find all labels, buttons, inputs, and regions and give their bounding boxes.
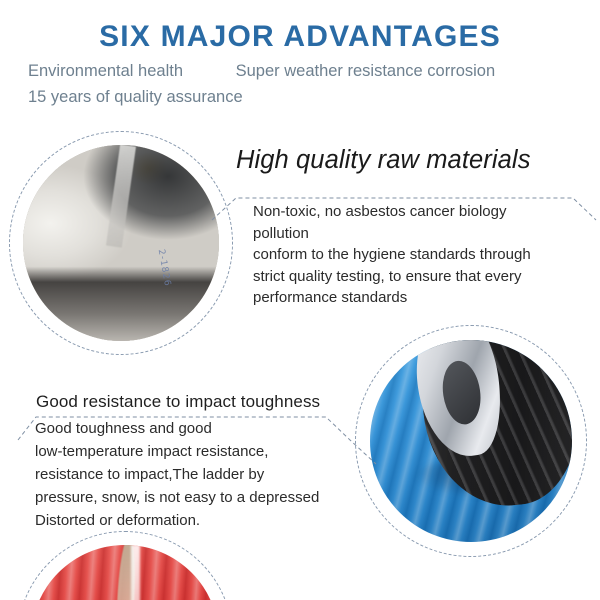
section-body-raw-materials: Non-toxic, no asbestos cancer biology po…: [253, 201, 588, 309]
body-line: resistance to impact,The ladder by: [35, 463, 375, 486]
body-line: Non-toxic, no asbestos cancer biology: [253, 201, 588, 223]
body-line: low-temperature impact resistance,: [35, 440, 375, 463]
body-line: strict quality testing, to ensure that e…: [253, 266, 588, 288]
subtitle-line-1: Environmental health Super weather resis…: [28, 62, 588, 81]
subtitle-quality-assurance: 15 years of quality assurance: [28, 88, 243, 107]
subtitle-environmental-health: Environmental health: [28, 62, 183, 81]
body-line: Distorted or deformation.: [35, 509, 375, 532]
subtitle-weather-resistance: Super weather resistance corrosion: [236, 62, 496, 81]
red-roof-sheet-image: [31, 545, 219, 600]
red-roof-sheet-photo: [31, 545, 219, 600]
body-line: conform to the hygiene standards through: [253, 244, 588, 266]
body-line: Good toughness and good: [35, 417, 375, 440]
tire-on-blue-roof-sheet-photo: [370, 340, 572, 542]
body-line: pressure, snow, is not easy to a depress…: [35, 486, 375, 509]
section-heading-impact-toughness: Good resistance to impact toughness: [36, 392, 320, 412]
body-line: pollution: [253, 223, 588, 245]
red-sheet-highlight: [131, 545, 140, 600]
blue-roof-sheet-image: [370, 340, 572, 542]
advantages-infographic: SIX MAJOR ADVANTAGES Environmental healt…: [0, 0, 600, 600]
body-line: performance standards: [253, 287, 588, 309]
section-body-impact-toughness: Good toughness and good low-temperature …: [35, 417, 375, 532]
sack-label-text: 2-1826: [155, 248, 171, 287]
factory-sacks-image: 2-1826: [23, 145, 219, 341]
factory-sacks-photo: 2-1826: [23, 145, 219, 341]
page-title: SIX MAJOR ADVANTAGES: [0, 20, 600, 54]
section-heading-raw-materials: High quality raw materials: [236, 146, 531, 175]
